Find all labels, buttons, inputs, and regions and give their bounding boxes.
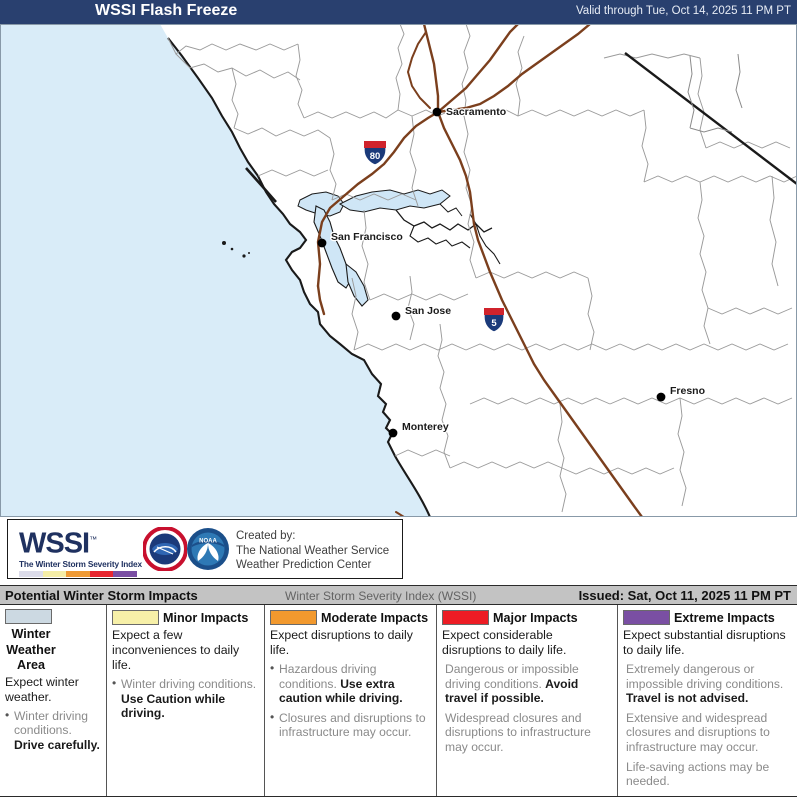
city-label: San Jose	[405, 305, 451, 317]
legend-column-winter-weather-area: Winter Weather AreaExpect winter weather…	[0, 605, 107, 796]
legend-lead-text: Expect considerable disruptions to daily…	[442, 628, 612, 658]
header-bar: WSSI Flash Freeze Valid through Tue, Oct…	[0, 0, 797, 24]
legend-heading: Potential Winter Storm Impacts	[5, 588, 198, 603]
legend-lead-text: Expect a few inconveniences to daily lif…	[112, 628, 259, 673]
legend-column-extreme-impacts: Extreme ImpactsExpect substantial disrup…	[618, 605, 797, 796]
wssi-logo: WSSI™ The Winter Storm Severity Index	[19, 525, 139, 577]
legend-bullet-list: Dangerous or impossible driving conditio…	[442, 662, 612, 755]
gradient-swatch-1	[43, 571, 67, 577]
wssi-logo-panel: WSSI™ The Winter Storm Severity Index NO…	[7, 519, 403, 579]
legend-bullet-item: Widespread closures and disruptions to i…	[442, 711, 612, 755]
legend-bullet-item: Hazardous driving conditions. Use extra …	[270, 662, 431, 706]
gradient-swatch-4	[113, 571, 137, 577]
gradient-swatch-2	[66, 571, 90, 577]
legend-label-major-impacts: Major Impacts	[493, 611, 578, 625]
city-label: San Francisco	[331, 231, 403, 243]
legend-title-bar: Potential Winter Storm Impacts Winter St…	[0, 585, 797, 605]
wssi-severity-gradient-bar	[19, 571, 137, 577]
credit-line-2: The National Weather Service	[236, 544, 389, 559]
legend-bullet-item: Winter driving conditions. Use Caution w…	[112, 677, 259, 721]
legend-header-row: Minor Impacts	[112, 609, 259, 627]
legend-bullet-item: Extensive and widespread closures and di…	[623, 711, 792, 755]
legend-header-row: Winter Weather Area	[5, 609, 101, 674]
issued-text: Issued: Sat, Oct 11, 2025 11 PM PT	[579, 588, 791, 603]
wssi-wordmark-text: WSSI	[19, 528, 89, 560]
legend-bullet-emphasis: Use extra caution while driving.	[279, 677, 403, 706]
legend-swatch-minor-impacts	[112, 610, 159, 625]
legend-lead-text: Expect disruptions to daily life.	[270, 628, 431, 658]
legend-subheading: Winter Storm Severity Index (WSSI)	[285, 589, 476, 603]
legend-bullet-emphasis: Drive carefully.	[14, 738, 100, 752]
wssi-wordmark: WSSI™	[19, 525, 139, 559]
svg-text:80: 80	[370, 151, 381, 162]
legend-bullet-list: Winter driving conditions. Drive careful…	[5, 709, 101, 753]
wssi-flash-freeze-page: WSSI Flash Freeze Valid through Tue, Oct…	[0, 0, 797, 797]
noaa-seal: NOAA	[186, 527, 230, 571]
legend-bullet-emphasis: Travel is not advised.	[626, 691, 748, 705]
legend-header-row: Moderate Impacts	[270, 609, 431, 627]
city-dot	[318, 239, 327, 248]
wssi-subtitle: The Winter Storm Severity Index	[19, 559, 139, 569]
map-canvas: 80 5 SacramentoSan FranciscoSan JoseMont…	[0, 24, 797, 517]
legend-bullet-emphasis: Avoid travel if possible.	[445, 677, 578, 706]
legend-bullet-item: Winter driving conditions. Drive careful…	[5, 709, 101, 753]
legend-bullet-item: Dangerous or impossible driving conditio…	[442, 662, 612, 706]
legend-bullet-item: Extremely dangerous or impossible drivin…	[623, 662, 792, 706]
city-dot	[389, 429, 398, 438]
legend-swatch-moderate-impacts	[270, 610, 317, 625]
legend-swatch-winter-weather-area	[5, 609, 52, 624]
city-label: Fresno	[670, 385, 705, 397]
legend-lead-text: Expect winter weather.	[5, 675, 101, 705]
city-dot	[433, 108, 442, 117]
svg-text:NOAA: NOAA	[199, 539, 217, 545]
legend-bullet-list: Extremely dangerous or impossible drivin…	[623, 662, 792, 789]
impact-legend: Winter Weather AreaExpect winter weather…	[0, 605, 797, 797]
legend-bullet-list: Hazardous driving conditions. Use extra …	[270, 662, 431, 740]
credit-block: Created by: The National Weather Service…	[236, 529, 389, 573]
legend-header-row: Extreme Impacts	[623, 609, 792, 627]
legend-swatch-major-impacts	[442, 610, 489, 625]
legend-lead-text: Expect substantial disruptions to daily …	[623, 628, 792, 658]
national-weather-service-seal	[143, 527, 187, 571]
legend-bullet-list: Winter driving conditions. Use Caution w…	[112, 677, 259, 721]
valid-through-text: Valid through Tue, Oct 14, 2025 11 PM PT	[576, 5, 791, 17]
legend-column-minor-impacts: Minor ImpactsExpect a few inconveniences…	[107, 605, 265, 796]
legend-label-extreme-impacts: Extreme Impacts	[674, 611, 775, 625]
legend-bullet-item: Closures and disruptions to infrastructu…	[270, 711, 431, 740]
page-title: WSSI Flash Freeze	[95, 2, 237, 20]
gradient-swatch-0	[19, 571, 43, 577]
legend-column-moderate-impacts: Moderate ImpactsExpect disruptions to da…	[265, 605, 437, 796]
legend-column-major-impacts: Major ImpactsExpect considerable disrupt…	[437, 605, 618, 796]
legend-label-moderate-impacts: Moderate Impacts	[321, 611, 428, 625]
legend-label-minor-impacts: Minor Impacts	[163, 611, 248, 625]
wssi-map[interactable]: 80 5 SacramentoSan FranciscoSan JoseMont…	[0, 24, 797, 517]
legend-bullet-emphasis: Use Caution while driving.	[121, 692, 225, 721]
gradient-swatch-3	[90, 571, 114, 577]
credit-line-1: Created by:	[236, 529, 389, 544]
legend-label-winter-weather-area: Winter Weather Area	[5, 627, 57, 674]
legend-header-row: Major Impacts	[442, 609, 612, 627]
city-dot	[392, 312, 401, 321]
trademark-symbol: ™	[89, 535, 96, 544]
svg-text:5: 5	[491, 318, 497, 329]
city-label: Sacramento	[446, 106, 506, 118]
legend-swatch-extreme-impacts	[623, 610, 670, 625]
city-label: Monterey	[402, 421, 449, 433]
credit-line-3: Weather Prediction Center	[236, 558, 389, 573]
city-dot	[657, 393, 666, 402]
legend-bullet-item: Life-saving actions may be needed.	[623, 760, 792, 789]
